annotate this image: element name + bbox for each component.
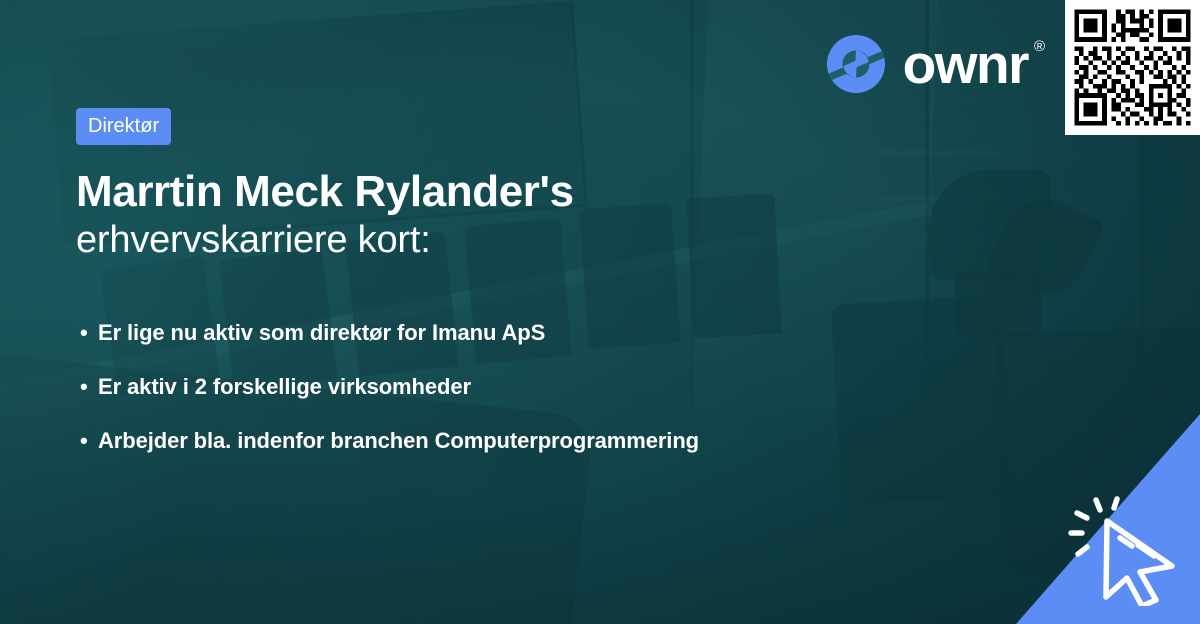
ownr-logo[interactable]: ownr ® [825,33,1028,95]
career-facts-list: • Er lige nu aktiv som direktør for Iman… [80,320,980,454]
list-item: • Er aktiv i 2 forskellige virksomheder [80,374,980,400]
list-item-label: Er lige nu aktiv som direktør for Imanu … [98,320,545,346]
ownr-circle-logo-icon [825,33,887,95]
list-item: • Er lige nu aktiv som direktør for Iman… [80,320,980,346]
list-item-label: Er aktiv i 2 forskellige virksomheder [98,374,471,400]
bullet-marker-icon: • [80,322,98,344]
qr-code[interactable] [1065,0,1200,135]
headline: Marrtin Meck Rylander's erhvervskarriere… [76,167,956,264]
bullet-marker-icon: • [80,430,98,452]
ownr-wordmark-text: ownr [903,33,1028,95]
bullet-marker-icon: • [80,376,98,398]
click-cursor-icon [1062,494,1182,606]
content-block: Direktør Marrtin Meck Rylander's erhverv… [76,108,956,264]
list-item: • Arbejder bla. indenfor branchen Comput… [80,428,980,454]
headline-line-1: Marrtin Meck Rylander's [76,167,956,216]
registered-trademark-icon: ® [1034,39,1045,54]
career-card-banner: ownr ® Direktør Marrtin Meck Rylander's … [0,0,1200,624]
ownr-wordmark: ownr ® [903,37,1028,92]
list-item-label: Arbejder bla. indenfor branchen Computer… [98,428,699,454]
headline-line-2: erhvervskarriere kort: [76,218,956,264]
role-badge: Direktør [76,108,171,145]
